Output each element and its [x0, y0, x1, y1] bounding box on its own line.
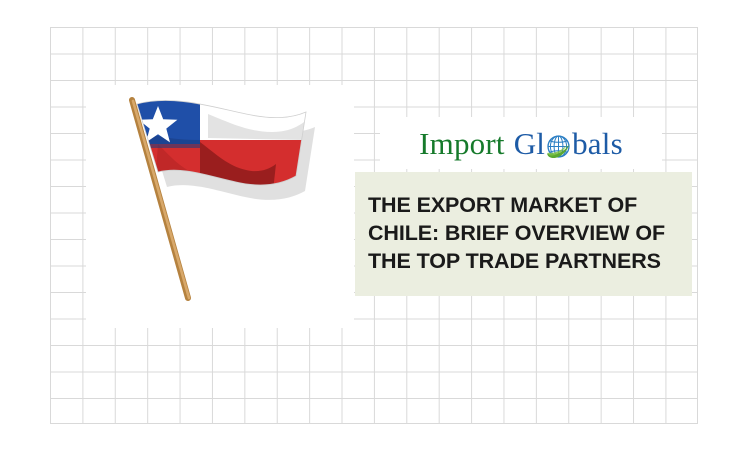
globe-icon [545, 133, 572, 160]
logo-word-gl: Gl [514, 128, 545, 159]
page-title: THE EXPORT MARKET OF CHILE: BRIEF OVERVI… [355, 192, 665, 276]
logo-word-import: Import [419, 128, 505, 159]
title-line-3: THE TOP TRADE PARTNERS [368, 248, 665, 276]
chile-flag-on-pole-icon [96, 92, 326, 324]
title-line-2: CHILE: BRIEF OVERVIEW OF [368, 220, 665, 248]
slide-canvas: Import Gl bals [0, 0, 750, 450]
title-banner: THE EXPORT MARKET OF CHILE: BRIEF OVERVI… [355, 172, 692, 296]
import-globals-logo: Import Gl bals [380, 117, 662, 169]
logo-word-bals: bals [572, 128, 623, 159]
logo-wordmark: Import Gl bals [419, 128, 623, 159]
title-line-1: THE EXPORT MARKET OF [368, 192, 665, 220]
